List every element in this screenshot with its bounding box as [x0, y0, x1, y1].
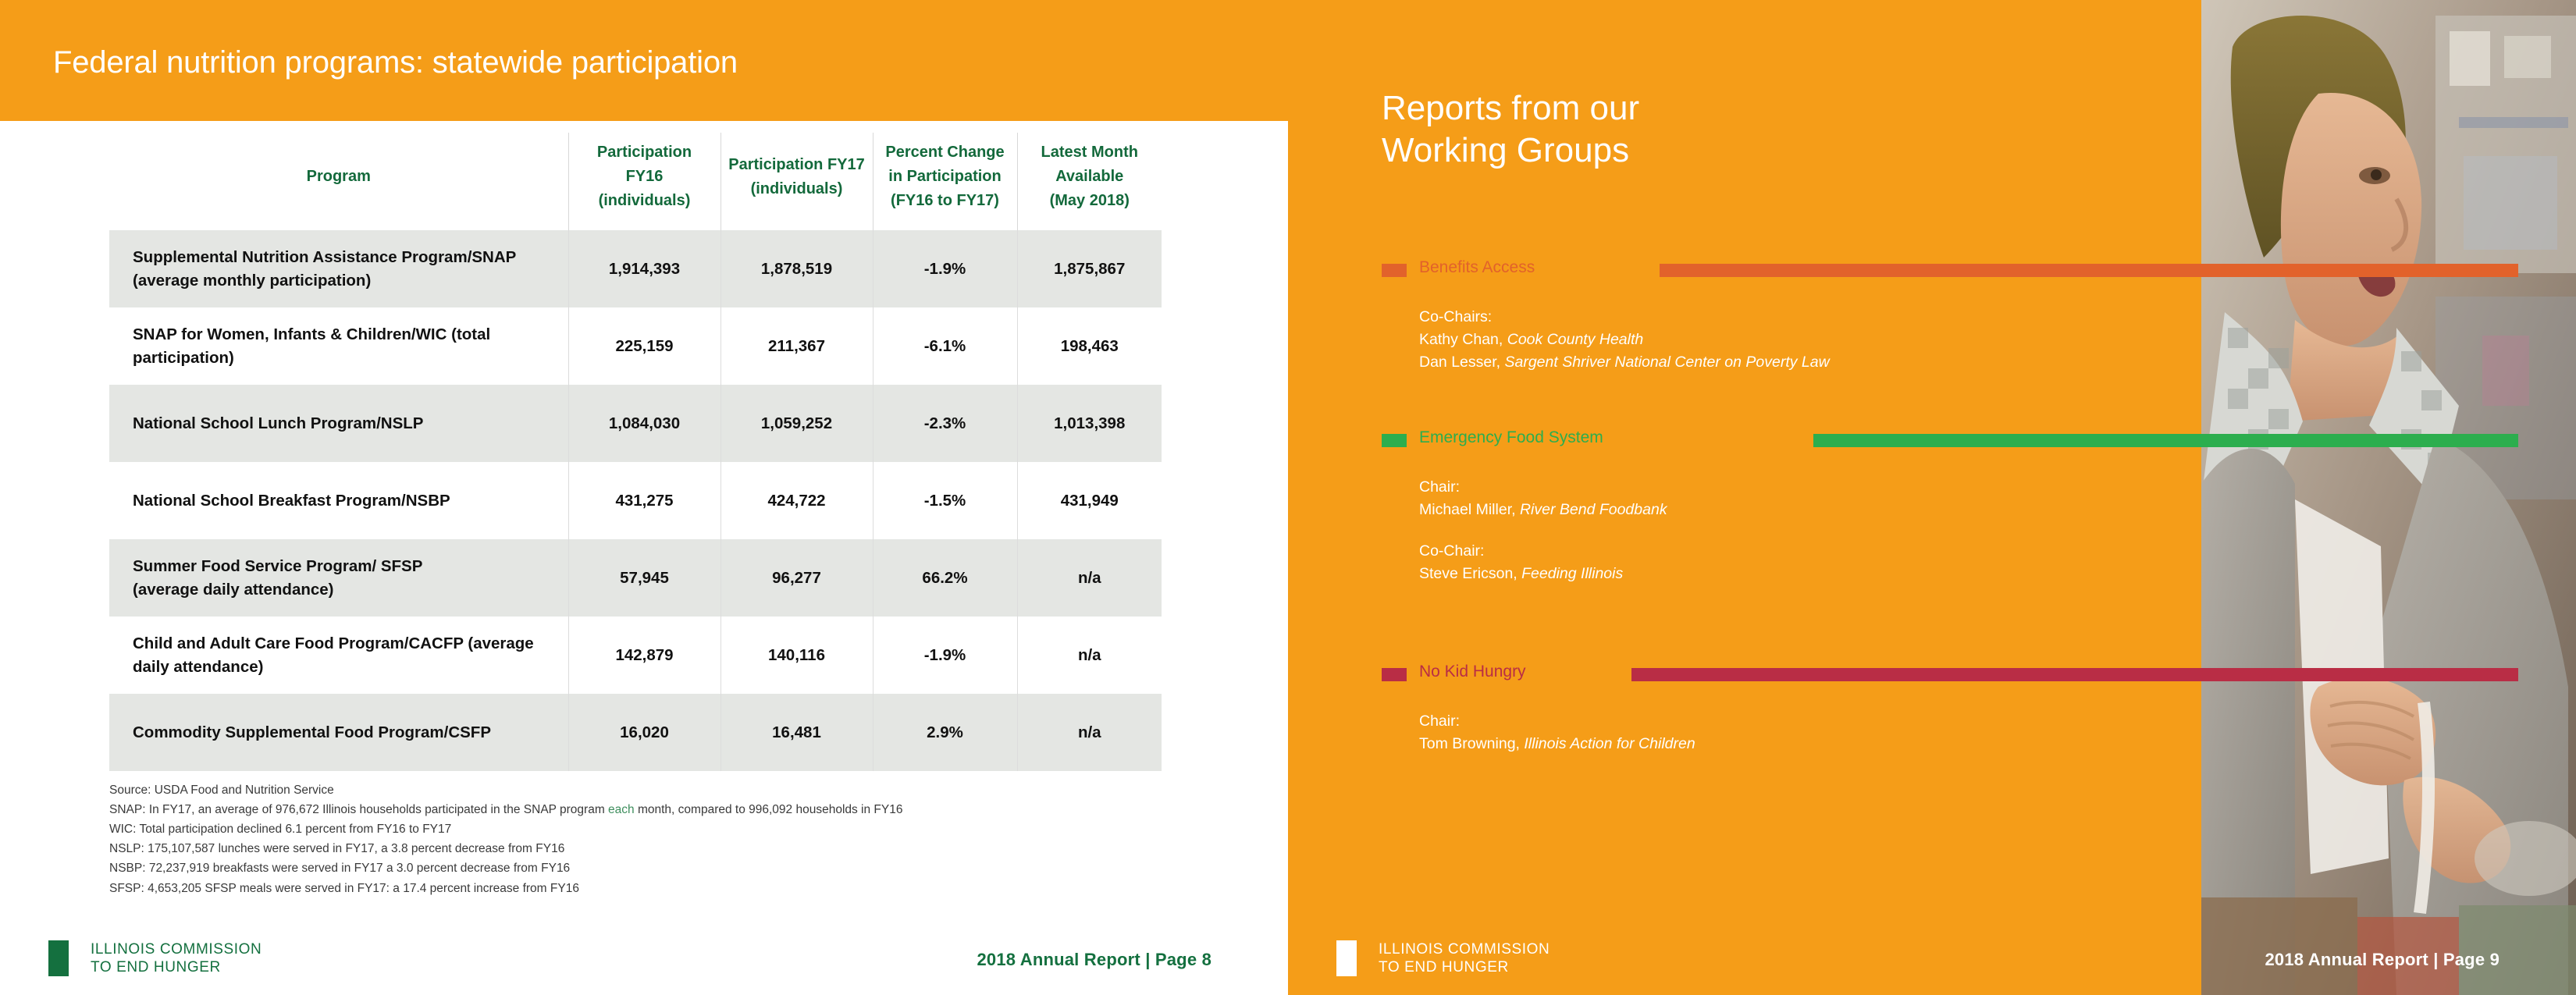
- accent-bar: [1660, 264, 2518, 277]
- working-group-name: No Kid Hungry: [1419, 663, 1526, 681]
- accent-bar: [1813, 434, 2518, 447]
- column-header-fy16: Participation FY16 (individuals): [568, 133, 720, 230]
- cell-fy16: 1,084,030: [568, 385, 720, 462]
- working-group-members: Chair: Michael Miller, River Bend Foodba…: [1419, 476, 1667, 585]
- program-line: Supplemental Nutrition Assistance Progra…: [133, 246, 554, 268]
- note-nslp: NSLP: 175,107,587 lunches were served in…: [109, 839, 1202, 858]
- page-title: Federal nutrition programs: statewide pa…: [53, 45, 738, 80]
- column-header-fy17: Participation FY17 (individuals): [720, 133, 873, 230]
- footer-org-name-right: ILLINOIS COMMISSION TO END HUNGER: [1379, 940, 1550, 976]
- table-row: Summer Food Service Program/ SFSP (avera…: [109, 539, 1162, 617]
- member-org: Cook County Health: [1507, 331, 1644, 348]
- nutrition-table-wrapper: Program Participation FY16 (individuals)…: [109, 133, 1171, 771]
- cell-fy17: 424,722: [720, 462, 873, 539]
- cell-fy16: 142,879: [568, 617, 720, 694]
- cell-percent-change: 2.9%: [873, 694, 1017, 771]
- member-name: Dan Lesser,: [1419, 354, 1504, 371]
- header-line: Available: [1023, 165, 1158, 189]
- program-line: National School Breakfast Program/NSBP: [133, 489, 554, 512]
- working-group-name: Benefits Access: [1419, 258, 1535, 277]
- right-title-line-1: Reports from our: [1382, 87, 1850, 130]
- page-left: Federal nutrition programs: statewide pa…: [0, 0, 1288, 995]
- cell-fy17: 140,116: [720, 617, 873, 694]
- org-line-1: ILLINOIS COMMISSION: [91, 940, 262, 958]
- member-role: Chair:: [1419, 710, 1695, 733]
- member-name: Kathy Chan,: [1419, 331, 1507, 348]
- table-header: Program Participation FY16 (individuals)…: [109, 133, 1162, 230]
- page-number-right: 2018 Annual Report | Page 9: [2265, 950, 2500, 970]
- cell-percent-change: -1.9%: [873, 617, 1017, 694]
- cell-latest-month: 431,949: [1017, 462, 1162, 539]
- header-line: (individuals): [574, 189, 716, 213]
- accent-bar: [1631, 668, 2518, 681]
- program-line: (average monthly participation): [133, 269, 554, 292]
- program-line: SNAP for Women, Infants & Children/WIC (…: [133, 323, 554, 346]
- header-line: FY16: [574, 165, 716, 189]
- note-sfsp: SFSP: 4,653,205 SFSP meals were served i…: [109, 879, 1202, 898]
- member-org: River Bend Foodbank: [1520, 501, 1667, 518]
- org-line-2: TO END HUNGER: [91, 958, 262, 976]
- working-group-name: Emergency Food System: [1419, 428, 1603, 447]
- member-role: Chair:: [1419, 476, 1667, 499]
- program-line: National School Lunch Program/NSLP: [133, 412, 554, 435]
- wheat-logo-icon: [1336, 940, 1368, 976]
- working-group-header: Benefits Access: [1288, 261, 2576, 281]
- page-right: Reports from our Working Groups: [1288, 0, 2576, 995]
- table-row: Child and Adult Care Food Program/CACFP …: [109, 617, 1162, 694]
- member-entry: Steve Ericson, Feeding Illinois: [1419, 563, 1667, 585]
- cell-fy16: 1,914,393: [568, 230, 720, 307]
- cell-latest-month: n/a: [1017, 617, 1162, 694]
- cell-fy16: 57,945: [568, 539, 720, 617]
- table-source-notes: Source: USDA Food and Nutrition Service …: [109, 780, 1202, 898]
- member-entry: Dan Lesser, Sargent Shriver National Cen…: [1419, 351, 1830, 374]
- org-line-1: ILLINOIS COMMISSION: [1379, 940, 1550, 958]
- note-snap: SNAP: In FY17, an average of 976,672 Ill…: [109, 800, 1202, 819]
- note-source: Source: USDA Food and Nutrition Service: [109, 780, 1202, 800]
- right-title-line-2: Working Groups: [1382, 130, 1850, 172]
- member-org: Sargent Shriver National Center on Pover…: [1504, 354, 1829, 371]
- table-row: National School Lunch Program/NSLP 1,084…: [109, 385, 1162, 462]
- header-line: Percent Change: [878, 140, 1012, 165]
- footer-logo-right: ILLINOIS COMMISSION TO END HUNGER: [1336, 940, 1550, 976]
- cell-latest-month: n/a: [1017, 694, 1162, 771]
- cell-percent-change: -6.1%: [873, 307, 1017, 385]
- table-header-row: Program Participation FY16 (individuals)…: [109, 133, 1162, 230]
- member-name: Tom Browning,: [1419, 735, 1524, 752]
- working-group-members: Co-Chairs: Kathy Chan, Cook County Healt…: [1419, 306, 1830, 374]
- cell-latest-month: 198,463: [1017, 307, 1162, 385]
- working-group-header: No Kid Hungry: [1288, 665, 2576, 685]
- cell-program: Commodity Supplemental Food Program/CSFP: [109, 694, 568, 771]
- header-line: Participation FY17: [726, 153, 868, 177]
- cell-program: Summer Food Service Program/ SFSP (avera…: [109, 539, 568, 617]
- cell-percent-change: -1.5%: [873, 462, 1017, 539]
- color-swatch-icon: [1382, 668, 1407, 681]
- cell-fy16: 16,020: [568, 694, 720, 771]
- note-wic: WIC: Total participation declined 6.1 pe…: [109, 819, 1202, 839]
- working-group-no-kid-hungry: No Kid Hungry Chair: Tom Browning, Illin…: [1288, 665, 2576, 685]
- header-line: Participation: [574, 140, 716, 165]
- member-role: Co-Chairs:: [1419, 306, 1830, 329]
- footer-org-name-left: ILLINOIS COMMISSION TO END HUNGER: [91, 940, 262, 976]
- org-line-2: TO END HUNGER: [1379, 958, 1550, 976]
- right-page-title: Reports from our Working Groups: [1382, 87, 1850, 172]
- photo-woman-at-food-pantry: [2201, 0, 2576, 995]
- cell-latest-month: n/a: [1017, 539, 1162, 617]
- color-swatch-icon: [1382, 434, 1407, 447]
- cell-fy17: 96,277: [720, 539, 873, 617]
- program-line: daily attendance): [133, 656, 554, 678]
- column-header-percent-change: Percent Change in Participation (FY16 to…: [873, 133, 1017, 230]
- table-row: Supplemental Nutrition Assistance Progra…: [109, 230, 1162, 307]
- program-line: Commodity Supplemental Food Program/CSFP: [133, 721, 554, 744]
- cell-program: Child and Adult Care Food Program/CACFP …: [109, 617, 568, 694]
- note-snap-highlight: each: [608, 803, 635, 816]
- cell-percent-change: -2.3%: [873, 385, 1017, 462]
- header-line: in Participation: [878, 165, 1012, 189]
- working-group-header: Emergency Food System: [1288, 431, 2576, 451]
- header-line: Latest Month: [1023, 140, 1158, 165]
- header-line: (FY16 to FY17): [878, 189, 1012, 213]
- member-name: Michael Miller,: [1419, 501, 1520, 518]
- cell-fy17: 1,059,252: [720, 385, 873, 462]
- member-name: Steve Ericson,: [1419, 565, 1521, 582]
- program-line: Child and Adult Care Food Program/CACFP …: [133, 632, 554, 655]
- program-line: participation): [133, 346, 554, 369]
- working-group-members: Chair: Tom Browning, Illinois Action for…: [1419, 710, 1695, 755]
- program-line: (average daily attendance): [133, 578, 554, 601]
- color-swatch-icon: [1382, 264, 1407, 277]
- table-body: Supplemental Nutrition Assistance Progra…: [109, 230, 1162, 771]
- working-group-benefits-access: Benefits Access Co-Chairs: Kathy Chan, C…: [1288, 261, 2576, 281]
- spacer: [1419, 521, 1667, 540]
- cell-latest-month: 1,013,398: [1017, 385, 1162, 462]
- cell-program: National School Breakfast Program/NSBP: [109, 462, 568, 539]
- member-entry: Kathy Chan, Cook County Health: [1419, 329, 1830, 351]
- program-line: Summer Food Service Program/ SFSP: [133, 555, 554, 577]
- column-header-program: Program: [109, 133, 568, 230]
- cell-fy16: 431,275: [568, 462, 720, 539]
- cell-fy17: 211,367: [720, 307, 873, 385]
- header-line: (May 2018): [1023, 189, 1158, 213]
- note-nsbp: NSBP: 72,237,919 breakfasts were served …: [109, 858, 1202, 878]
- cell-fy16: 225,159: [568, 307, 720, 385]
- cell-fy17: 16,481: [720, 694, 873, 771]
- table-row: SNAP for Women, Infants & Children/WIC (…: [109, 307, 1162, 385]
- working-group-emergency-food-system: Emergency Food System Chair: Michael Mil…: [1288, 431, 2576, 451]
- photo-illustration: [2201, 0, 2576, 995]
- page-number-left: 2018 Annual Report | Page 8: [977, 950, 1212, 970]
- wheat-logo-icon: [48, 940, 80, 976]
- annual-report-spread: Federal nutrition programs: statewide pa…: [0, 0, 2576, 995]
- member-org: Feeding Illinois: [1521, 565, 1623, 582]
- cell-latest-month: 1,875,867: [1017, 230, 1162, 307]
- cell-percent-change: 66.2%: [873, 539, 1017, 617]
- member-entry: Tom Browning, Illinois Action for Childr…: [1419, 733, 1695, 755]
- note-snap-part2: month, compared to 996,092 households in…: [635, 803, 903, 816]
- nutrition-participation-table: Program Participation FY16 (individuals)…: [109, 133, 1162, 771]
- header-line: (individuals): [726, 177, 868, 201]
- table-row: Commodity Supplemental Food Program/CSFP…: [109, 694, 1162, 771]
- cell-program: SNAP for Women, Infants & Children/WIC (…: [109, 307, 568, 385]
- table-row: National School Breakfast Program/NSBP 4…: [109, 462, 1162, 539]
- member-role: Co-Chair:: [1419, 540, 1667, 563]
- header-line: Program: [114, 165, 564, 189]
- member-entry: Michael Miller, River Bend Foodbank: [1419, 499, 1667, 521]
- cell-program: National School Lunch Program/NSLP: [109, 385, 568, 462]
- footer-logo-left: ILLINOIS COMMISSION TO END HUNGER: [48, 940, 262, 976]
- note-snap-part1: SNAP: In FY17, an average of 976,672 Ill…: [109, 803, 608, 816]
- cell-percent-change: -1.9%: [873, 230, 1017, 307]
- member-org: Illinois Action for Children: [1524, 735, 1695, 752]
- cell-fy17: 1,878,519: [720, 230, 873, 307]
- column-header-latest-month: Latest Month Available (May 2018): [1017, 133, 1162, 230]
- cell-program: Supplemental Nutrition Assistance Progra…: [109, 230, 568, 307]
